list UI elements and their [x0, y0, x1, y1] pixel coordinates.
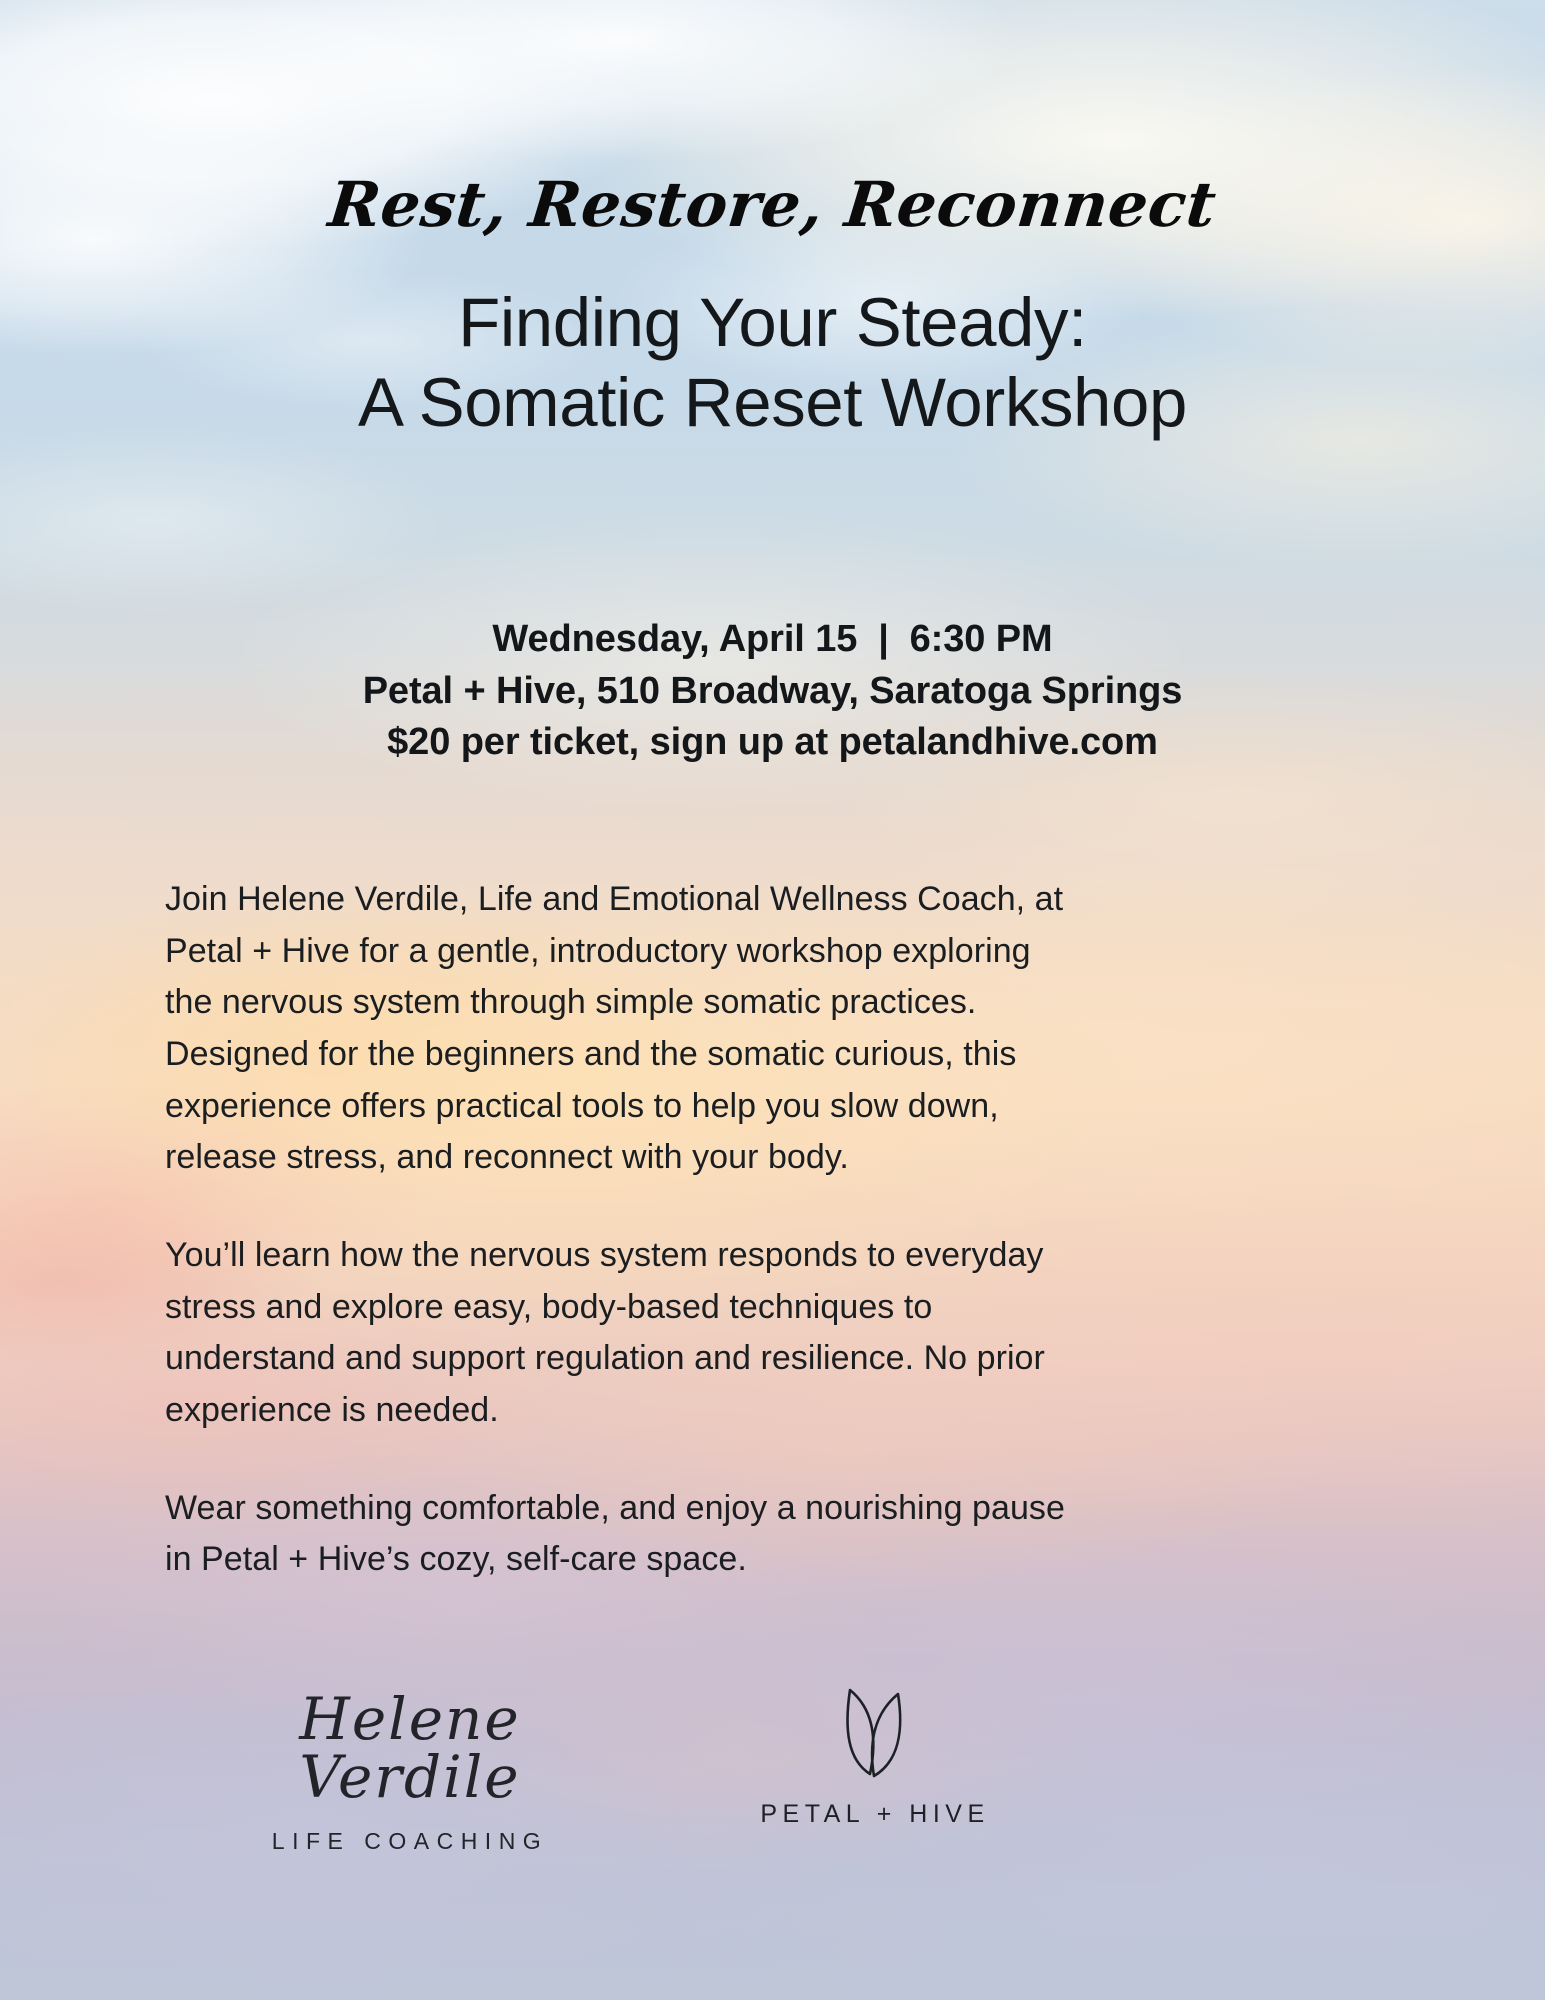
description-body: Join Helene Verdile, Life and Emotional … — [165, 874, 1085, 1586]
paragraph-intro: Join Helene Verdile, Life and Emotional … — [165, 874, 1085, 1184]
title-line-1: Finding Your Steady: — [0, 283, 1545, 363]
event-details: Wednesday, April 15 | 6:30 PM Petal + Hi… — [0, 614, 1545, 769]
paragraph-learning: You’ll learn how the nervous system resp… — [165, 1230, 1085, 1437]
event-flyer: Rest, Restore, Reconnect Finding Your St… — [0, 0, 1545, 2000]
paragraph-closing: Wear something comfortable, and enjoy a … — [165, 1483, 1085, 1586]
title-line-2: A Somatic Reset Workshop — [0, 363, 1545, 443]
petal-hive-logo: PETAL + HIVE — [745, 1682, 1005, 1829]
event-price-signup: $20 per ticket, sign up at petalandhive.… — [0, 717, 1545, 769]
page-title: Finding Your Steady: A Somatic Reset Wor… — [0, 283, 1545, 443]
flyer-content: Rest, Restore, Reconnect Finding Your St… — [0, 0, 1545, 2000]
logo-row: Helene Verdile LIFE COACHING PETAL + HIV… — [0, 1690, 1545, 1890]
event-location: Petal + Hive, 510 Broadway, Saratoga Spr… — [0, 666, 1545, 718]
venue-name: PETAL + HIVE — [745, 1800, 1005, 1829]
petal-flower-icon — [836, 1682, 914, 1778]
event-datetime: Wednesday, April 15 | 6:30 PM — [0, 614, 1545, 666]
coach-name: Helene Verdile — [215, 1690, 605, 1806]
helene-verdile-logo: Helene Verdile LIFE COACHING — [215, 1690, 605, 1855]
eyebrow-tagline: Rest, Restore, Reconnect — [0, 168, 1545, 241]
coach-tagline: LIFE COACHING — [215, 1828, 605, 1855]
